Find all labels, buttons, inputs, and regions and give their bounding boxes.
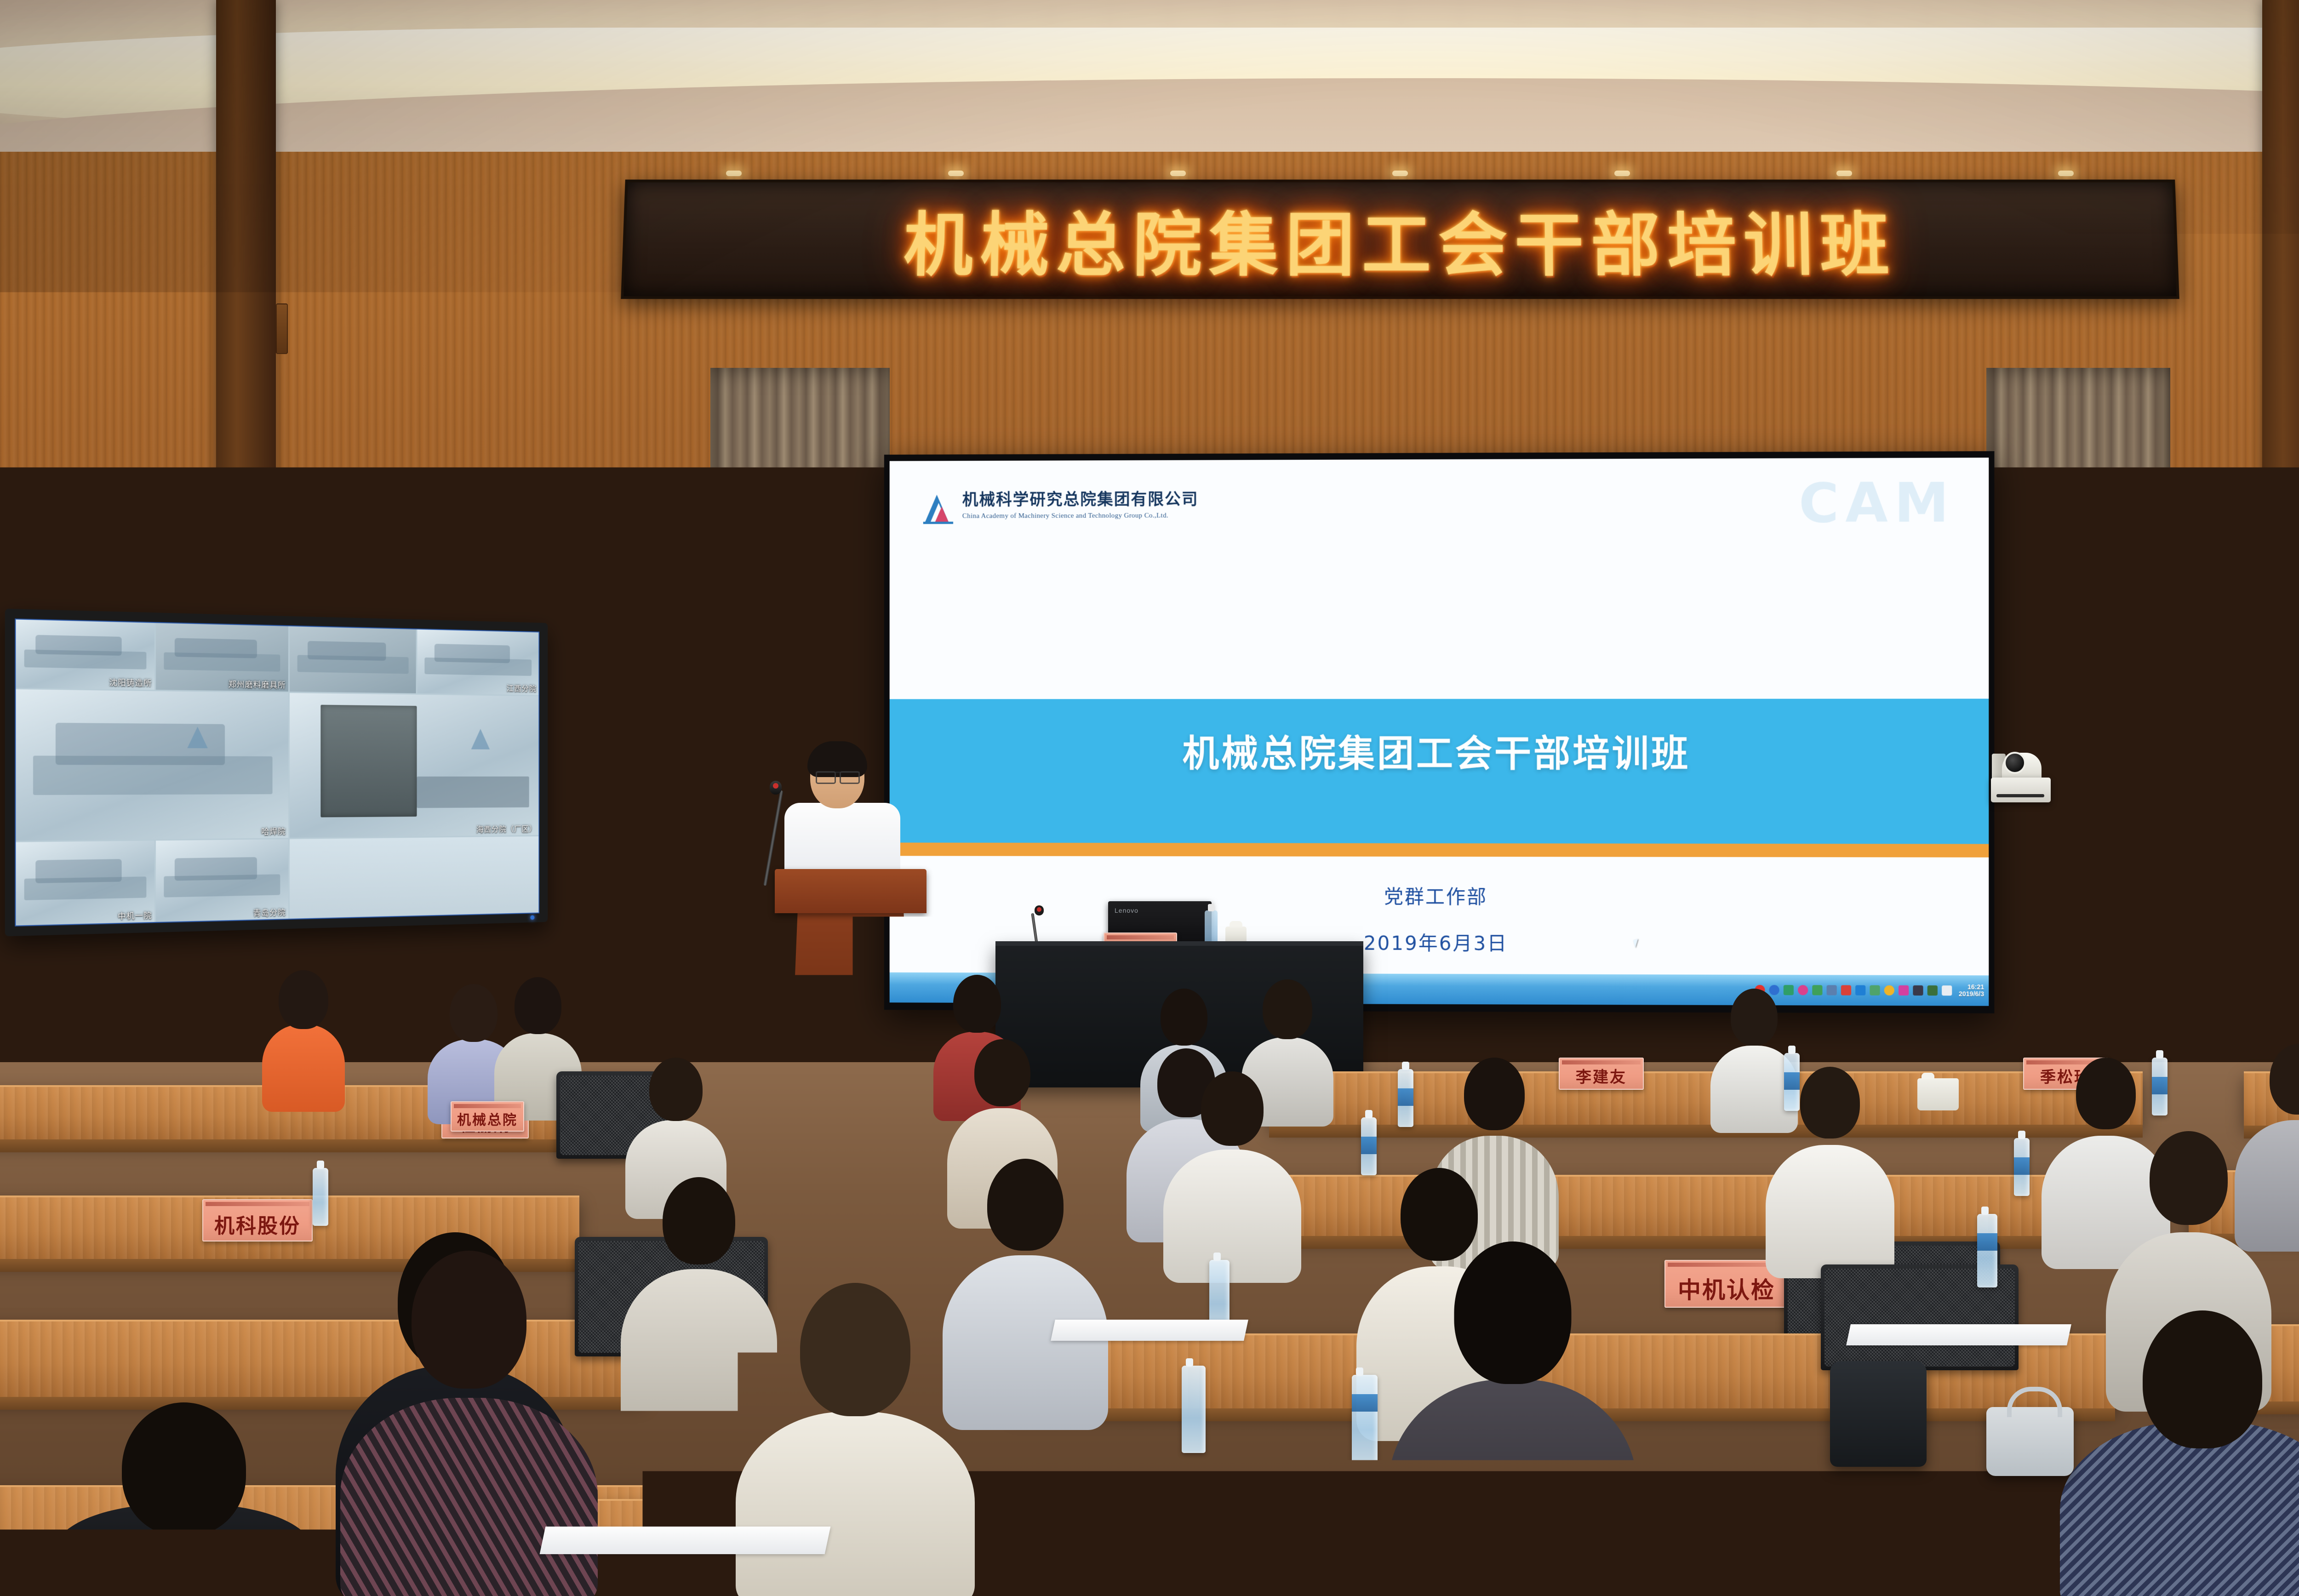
water-bottle — [2152, 1058, 2167, 1115]
update-icon[interactable] — [1884, 985, 1894, 995]
slide-orange-accent-stripe — [890, 843, 1989, 858]
company-name-cn: 机械科学研究总院集团有限公司 — [962, 491, 1199, 509]
attendee-foreground — [55, 1402, 313, 1596]
conference-hall-photo: 机械总院集团工会干部培训班 CAM 机械科学研究总院集团有限公司 China A… — [0, 0, 2299, 1596]
microphone-icon — [1035, 905, 1044, 915]
water-bottle — [809, 1163, 825, 1221]
water-bottle — [1361, 1117, 1377, 1175]
handout-paper — [1846, 1324, 2071, 1345]
water-bottle — [1784, 1053, 1800, 1111]
wall-vent — [276, 303, 288, 354]
video-tile: 沈阳铸造所 — [16, 619, 154, 689]
handout-paper — [1078, 1430, 1276, 1454]
slide-title: 机械总院集团工会干部培训班 — [890, 724, 1989, 778]
attendee — [262, 970, 345, 1108]
microphone-icon — [770, 781, 782, 795]
stage-curtain-right — [1986, 368, 2170, 1085]
cam-logo-icon — [923, 491, 956, 524]
water-bottle — [1352, 1375, 1378, 1467]
ptz-conference-camera — [1991, 733, 2051, 802]
volume-icon[interactable] — [1841, 985, 1851, 995]
attendee — [782, 1035, 920, 1232]
signal-bars-icon[interactable] — [1927, 985, 1937, 995]
eyeglasses-icon — [816, 772, 860, 781]
water-bottle — [1398, 1069, 1413, 1127]
name-plate-text: 中机认检 — [1678, 1272, 1775, 1305]
video-tile-caption: 郑州磨料磨具所 — [229, 678, 286, 690]
video-tile-empty — [289, 836, 538, 919]
bluetooth-icon[interactable] — [1855, 985, 1865, 995]
video-tile — [289, 626, 416, 693]
water-bottle — [2014, 1138, 2030, 1196]
video-tile: 海西分院（厂区） — [289, 693, 538, 838]
video-tile: 江西分院 — [417, 629, 539, 695]
clock-date: 2019/6/3 — [1959, 990, 1984, 997]
name-plate-text: 机科股份 — [214, 1209, 301, 1239]
video-tile: 郑州磨料磨具所 — [156, 623, 288, 692]
video-tile: 哈焊院 — [16, 689, 288, 841]
attendee-foreground — [2060, 1310, 2299, 1596]
attendee-foreground — [1389, 1241, 1637, 1596]
video-tile: 青岛分院 — [156, 839, 288, 922]
backpack — [1830, 1361, 1927, 1467]
clock-time: 16:21 — [1959, 984, 1984, 990]
video-tile-caption: 中机一院 — [118, 909, 152, 921]
speaker-icon[interactable] — [1942, 985, 1952, 995]
banner-downlights — [623, 169, 2177, 177]
taskbar-clock[interactable]: 16:21 2019/6/3 — [1959, 984, 1984, 997]
name-plate-text: 机械总院 — [457, 1109, 518, 1129]
handout-paper — [1051, 1320, 1248, 1341]
video-wall-monitor-left: 沈阳铸造所 郑州磨料磨具所 江西分院 哈焊院 海西分院（厂区） 中机一院 青岛分… — [5, 609, 548, 937]
name-plate: 机械总院 — [451, 1101, 524, 1132]
tea-mug — [1917, 1078, 1959, 1110]
monitor-power-led-icon — [530, 915, 534, 920]
water-bottle — [313, 1168, 328, 1226]
company-logo: 机械科学研究总院集团有限公司 China Academy of Machiner… — [923, 491, 1199, 524]
flash-player-icon[interactable] — [1870, 985, 1880, 995]
handbag — [1986, 1407, 2074, 1476]
laptop-brand-label: Lenovo — [1115, 907, 1138, 914]
video-tile: 中机一院 — [16, 841, 154, 926]
name-plate: 机科股份 — [202, 1199, 313, 1241]
video-tile-caption: 江西分院 — [507, 682, 537, 693]
handout-paper — [540, 1527, 831, 1554]
video-tile-caption: 青岛分院 — [253, 906, 286, 918]
video-tile-caption: 哈焊院 — [261, 825, 286, 837]
name-plate: 李建友 — [1559, 1058, 1644, 1090]
px-app-icon[interactable] — [1899, 985, 1909, 995]
utility-icon[interactable] — [1913, 985, 1923, 995]
led-banner-text: 机械总院集团工会干部培训班 — [903, 189, 1897, 289]
video-tile-caption: 海西分院（厂区） — [476, 823, 537, 834]
attendee — [1163, 1071, 1301, 1278]
video-grid-left: 沈阳铸造所 郑州磨料磨具所 江西分院 哈焊院 海西分院（厂区） 中机一院 青岛分… — [16, 619, 538, 925]
led-banner: 机械总院集团工会干部培训班 — [621, 180, 2179, 299]
video-tile-caption: 沈阳铸造所 — [109, 676, 152, 688]
company-name-en: China Academy of Machinery Science and T… — [962, 512, 1199, 520]
water-bottle — [1977, 1214, 1997, 1287]
name-plate-text: 李建友 — [1576, 1064, 1627, 1087]
camera-lens-icon — [2004, 752, 2026, 774]
sync-icon[interactable] — [1798, 985, 1808, 995]
network-monitor-icon[interactable] — [1826, 985, 1836, 995]
cam-watermark: CAM — [1799, 475, 1956, 530]
antivirus-shield-icon[interactable] — [1812, 985, 1822, 995]
